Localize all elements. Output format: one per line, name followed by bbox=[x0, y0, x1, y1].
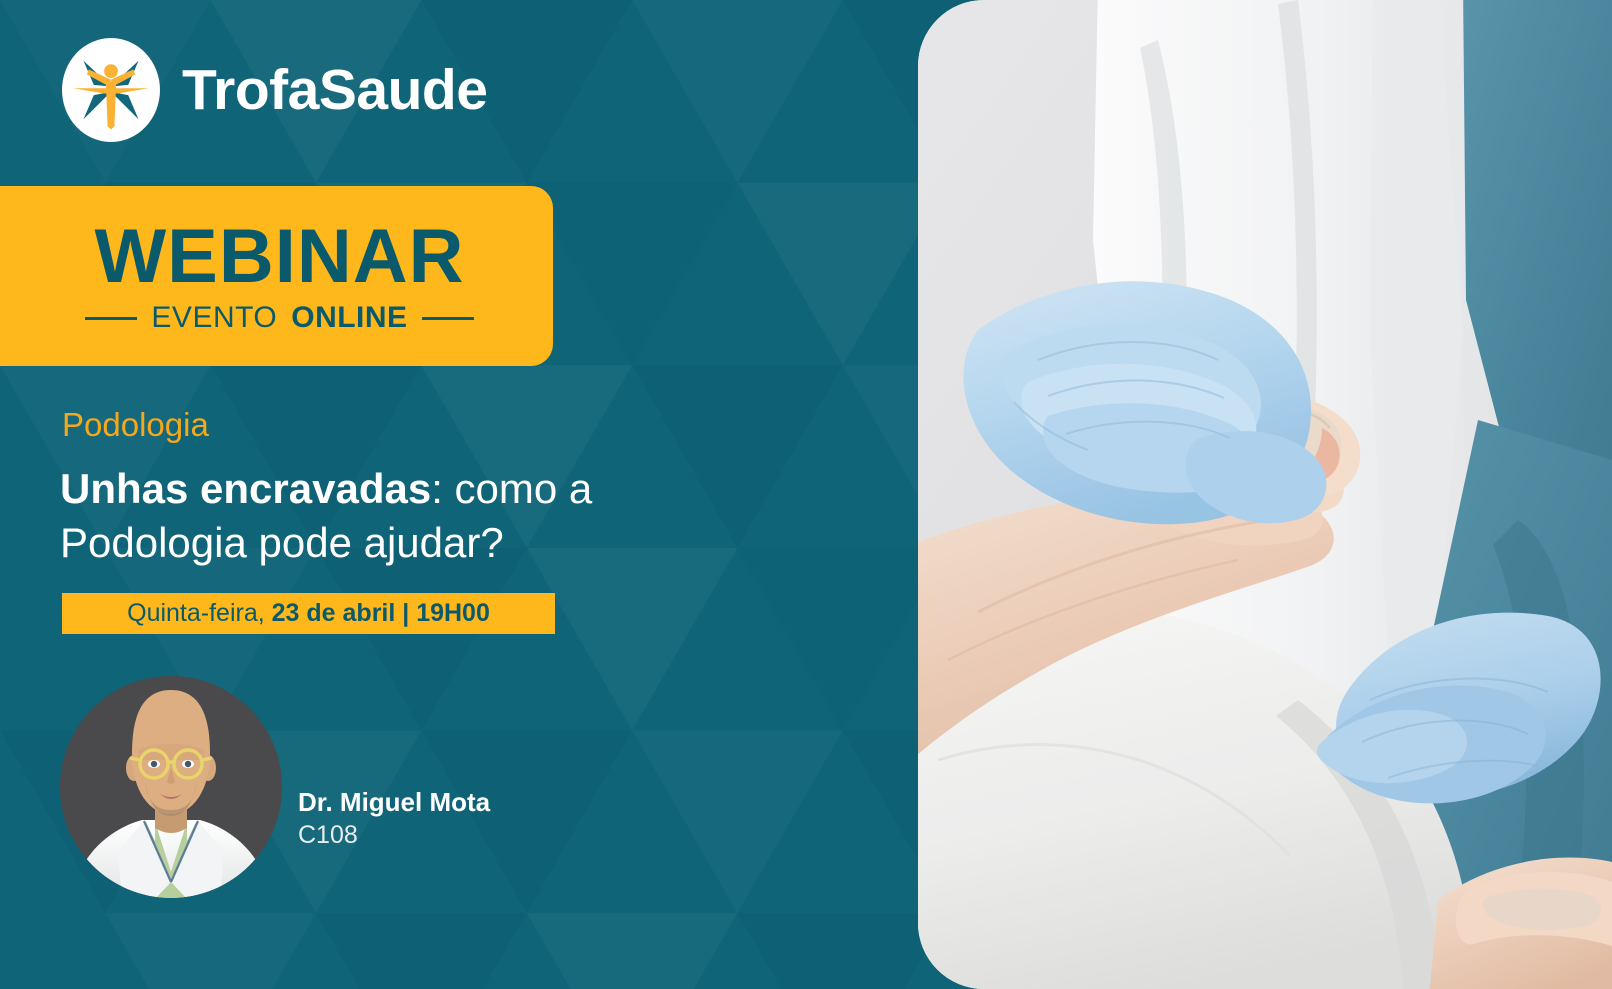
subtitle-online: ONLINE bbox=[291, 303, 407, 333]
star-person-logo-icon bbox=[62, 38, 160, 142]
webinar-badge: WEBINAR EVENTO ONLINE bbox=[0, 186, 553, 366]
speaker-code: C108 bbox=[298, 819, 490, 852]
date-weekday: Quinta-feira, bbox=[127, 599, 265, 628]
avatar bbox=[60, 676, 282, 898]
webinar-badge-title: WEBINAR bbox=[94, 219, 464, 295]
brand-wordmark: TrofaSaude bbox=[182, 57, 487, 123]
date-banner: Quinta-feira, 23 de abril | 19H00 bbox=[62, 593, 555, 634]
webinar-poster: TrofaSaude WEBINAR EVENTO ONLINE Podolog… bbox=[0, 0, 1612, 989]
subtitle-evento: EVENTO bbox=[151, 303, 277, 333]
date-time: 23 de abril | 19H00 bbox=[272, 599, 490, 628]
speaker-name: Dr. Miguel Mota bbox=[298, 786, 490, 819]
dash-left-icon bbox=[85, 317, 137, 320]
talk-title: Unhas encravadas: como a Podologia pode … bbox=[60, 462, 680, 570]
speaker-info: Dr. Miguel Mota C108 bbox=[298, 786, 490, 851]
brand-logo: TrofaSaude bbox=[62, 38, 487, 142]
webinar-badge-subtitle: EVENTO ONLINE bbox=[85, 303, 473, 333]
left-content-column: TrofaSaude WEBINAR EVENTO ONLINE Podolog… bbox=[0, 0, 918, 989]
talk-title-highlight: Unhas encravadas bbox=[60, 465, 431, 512]
podiatry-foot-examination-photo bbox=[918, 0, 1612, 989]
dash-right-icon bbox=[422, 317, 474, 320]
specialty-label: Podologia bbox=[62, 406, 209, 444]
